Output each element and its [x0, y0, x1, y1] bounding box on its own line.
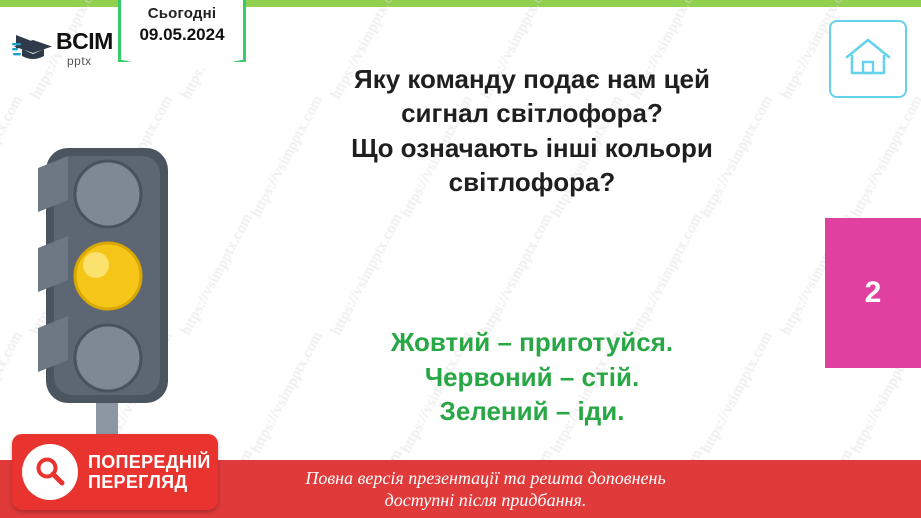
date-badge-date: 09.05.2024 — [121, 25, 243, 45]
date-badge-today-label: Сьогодні — [121, 5, 243, 22]
answer-line-3: Зелений – іди. — [252, 394, 812, 429]
logo-subtitle: pptx — [67, 55, 113, 67]
traffic-light-illustration — [18, 138, 208, 438]
question-line-4: світлофора? — [252, 165, 812, 199]
date-badge: Сьогодні 09.05.2024 — [118, 0, 246, 62]
question-text: Яку команду подає нам цей сигнал світлоф… — [252, 62, 812, 199]
date-badge-notch — [118, 59, 246, 73]
watermark-text: https://vsimpptx.com — [628, 211, 706, 338]
purchase-notice-line-2: доступні після придбання. — [305, 489, 665, 512]
preview-button[interactable]: ПОПЕРЕДНІЙ ПЕРЕГЛЯД — [12, 434, 218, 510]
watermark-text: https://vsimpptx.com — [848, 93, 921, 220]
home-button[interactable] — [829, 20, 907, 98]
logo-name: BCIM — [56, 30, 113, 53]
house-icon — [843, 35, 893, 84]
magnifier-icon — [22, 444, 78, 500]
question-line-3: Що означають інші кольори — [252, 131, 812, 165]
answer-text: Жовтий – приготуйся. Червоний – стій. Зе… — [252, 325, 812, 429]
watermark-text: https://vsimpptx.com — [328, 211, 406, 338]
brand-logo: BCIM pptx — [12, 26, 116, 70]
graduation-cap-icon — [12, 31, 54, 66]
watermark-text: https://vsimpptx.com — [478, 211, 556, 338]
question-line-2: сигнал світлофора? — [252, 96, 812, 130]
question-line-1: Яку команду подає нам цей — [252, 62, 812, 96]
purchase-notice-line-1: Повна версія презентації та решта доповн… — [305, 467, 665, 490]
answer-line-2: Червоний – стій. — [252, 360, 812, 395]
preview-button-line-1: ПОПЕРЕДНІЙ — [88, 452, 211, 472]
preview-button-line-2: ПЕРЕГЛЯД — [88, 472, 211, 492]
answer-line-1: Жовтий – приготуйся. — [252, 325, 812, 360]
slide-number-badge: 2 — [825, 218, 921, 368]
